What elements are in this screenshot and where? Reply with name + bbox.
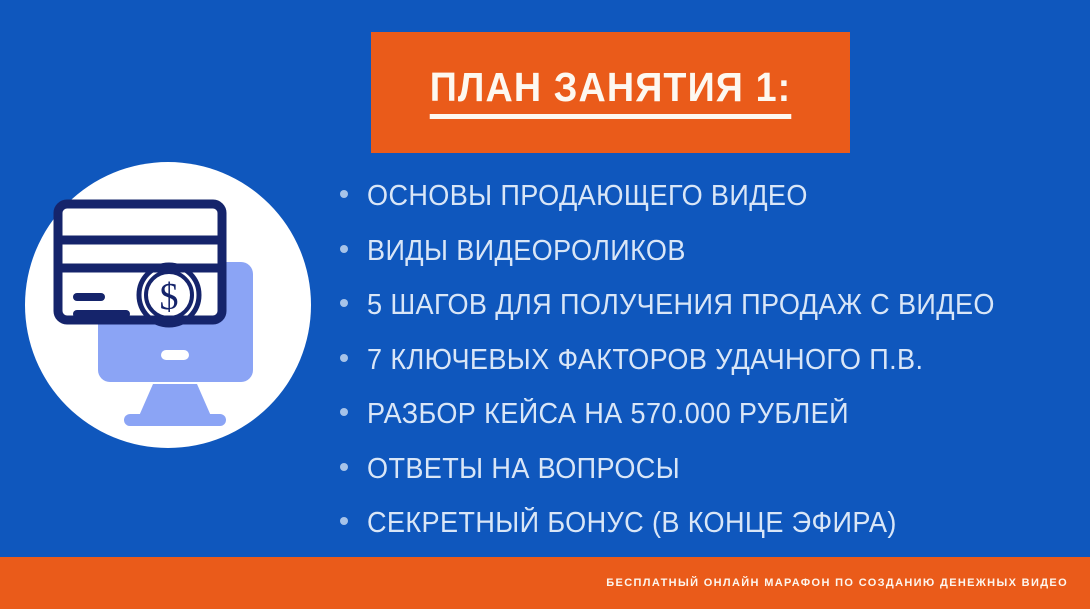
list-item: 7 КЛЮЧЕВЫХ ФАКТОРОВ УДАЧНОГО П.В. (340, 344, 1040, 399)
monitor-credit-card-dollar-icon: $ (25, 162, 311, 448)
list-item: РАЗБОР КЕЙСА НА 570.000 РУБЛЕЙ (340, 398, 1040, 453)
agenda-list: ОСНОВЫ ПРОДАЮЩЕГО ВИДЕО ВИДЫ ВИДЕОРОЛИКО… (340, 180, 1040, 562)
bullet-dot-icon (340, 517, 348, 525)
list-item: ВИДЫ ВИДЕОРОЛИКОВ (340, 235, 1040, 290)
list-item: СЕКРЕТНЫЙ БОНУС (В КОНЦЕ ЭФИРА) (340, 507, 1040, 562)
slide-canvas: $ ПЛАН ЗАНЯТИЯ 1: ОСНОВЫ ПРОДАЮЩЕГО ВИДЕ… (0, 0, 1090, 609)
bullet-dot-icon (340, 190, 348, 198)
list-item: 5 ШАГОВ ДЛЯ ПОЛУЧЕНИЯ ПРОДАЖ С ВИДЕО (340, 289, 1040, 344)
list-item-label: ВИДЫ ВИДЕОРОЛИКОВ (367, 235, 686, 268)
list-item: ОСНОВЫ ПРОДАЮЩЕГО ВИДЕО (340, 180, 1040, 235)
bullet-dot-icon (340, 299, 348, 307)
illustration: $ (25, 162, 311, 448)
list-item-label: ОТВЕТЫ НА ВОПРОСЫ (367, 453, 680, 486)
list-item-label: 5 ШАГОВ ДЛЯ ПОЛУЧЕНИЯ ПРОДАЖ С ВИДЕО (367, 289, 995, 322)
footer-bar: БЕСПЛАТНЫЙ ОНЛАЙН МАРАФОН ПО СОЗДАНИЮ ДЕ… (0, 557, 1090, 609)
list-item-label: ОСНОВЫ ПРОДАЮЩЕГО ВИДЕО (367, 180, 808, 213)
list-item-label: СЕКРЕТНЫЙ БОНУС (В КОНЦЕ ЭФИРА) (367, 507, 897, 540)
bullet-dot-icon (340, 408, 348, 416)
title-banner: ПЛАН ЗАНЯТИЯ 1: (371, 32, 850, 153)
bullet-dot-icon (340, 463, 348, 471)
bullet-dot-icon (340, 354, 348, 362)
footer-tagline: БЕСПЛАТНЫЙ ОНЛАЙН МАРАФОН ПО СОЗДАНИЮ ДЕ… (606, 577, 1090, 589)
svg-text:$: $ (160, 276, 179, 318)
page-title: ПЛАН ЗАНЯТИЯ 1: (430, 66, 792, 119)
list-item: ОТВЕТЫ НА ВОПРОСЫ (340, 453, 1040, 508)
bullet-dot-icon (340, 245, 348, 253)
list-item-label: РАЗБОР КЕЙСА НА 570.000 РУБЛЕЙ (367, 398, 849, 431)
list-item-label: 7 КЛЮЧЕВЫХ ФАКТОРОВ УДАЧНОГО П.В. (367, 344, 923, 377)
